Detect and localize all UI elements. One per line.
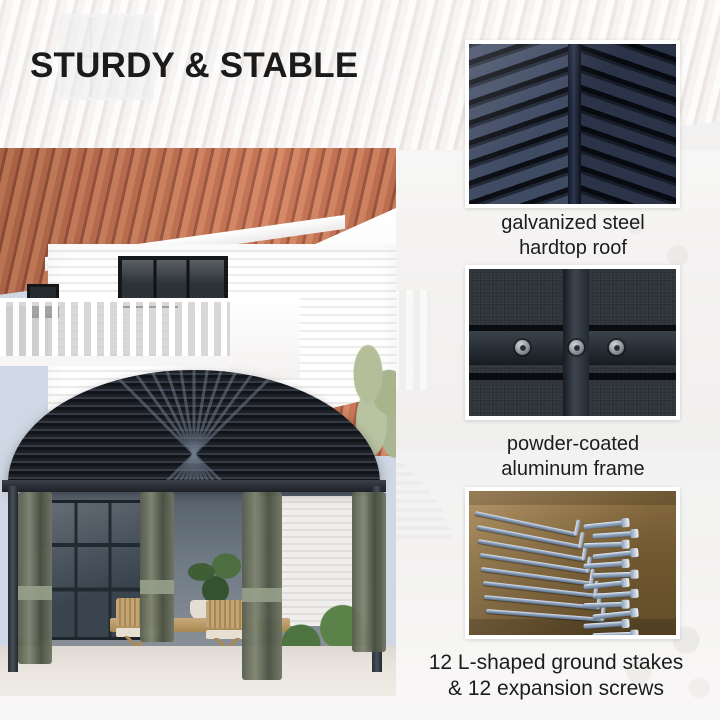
fabric-fold — [469, 619, 676, 635]
hardtop-louver-closeup — [469, 44, 676, 204]
hero-gazebo-curtain — [352, 492, 386, 652]
caption-line-2: aluminum frame — [450, 457, 696, 482]
hero-balcony-base — [0, 356, 232, 366]
panel-hardtop-roof — [465, 40, 680, 208]
caption-hardtop-roof: galvanized steel hardtop roof — [450, 211, 696, 261]
hero-curtain-tieback — [242, 588, 282, 602]
caption-line-1: 12 L-shaped ground stakes — [406, 650, 706, 676]
hero-gazebo-curtain — [18, 492, 52, 664]
caption-line-2: hardtop roof — [450, 236, 696, 261]
panel-aluminum-frame — [465, 265, 680, 420]
caption-line-1: galvanized steel — [450, 211, 696, 236]
page-title: STURDY & STABLE — [30, 46, 358, 86]
hero-gazebo-post — [8, 486, 18, 672]
screw-icon — [515, 340, 530, 355]
caption-line-2: & 12 expansion screws — [406, 676, 706, 702]
hero-balcony-railing — [0, 302, 230, 360]
hero-patio-floor — [0, 646, 396, 696]
hero-curtain-tieback — [140, 580, 174, 594]
caption-ground-stakes: 12 L-shaped ground stakes & 12 expansion… — [406, 650, 706, 702]
hero-wall-panel — [228, 298, 300, 378]
roof-gloss-highlight — [469, 44, 676, 204]
frame-joint-closeup — [469, 269, 676, 416]
caption-line-1: powder-coated — [450, 432, 696, 457]
panel-ground-stakes — [465, 487, 680, 639]
hero-photo-gazebo-scene — [0, 148, 396, 696]
product-feature-graphic: STURDY & STABLE — [0, 0, 720, 720]
hero-gazebo-curtain — [140, 492, 174, 642]
hero-gazebo-beam — [2, 480, 386, 492]
stakes-and-screws-closeup — [469, 491, 676, 635]
hero-gazebo-curtain — [242, 492, 282, 680]
caption-aluminum-frame: powder-coated aluminum frame — [450, 432, 696, 482]
screw-icon — [569, 340, 584, 355]
screw-icon — [609, 340, 624, 355]
fabric-fold — [469, 491, 676, 505]
expansion-screw — [592, 632, 632, 635]
hero-curtain-tieback — [18, 586, 52, 600]
